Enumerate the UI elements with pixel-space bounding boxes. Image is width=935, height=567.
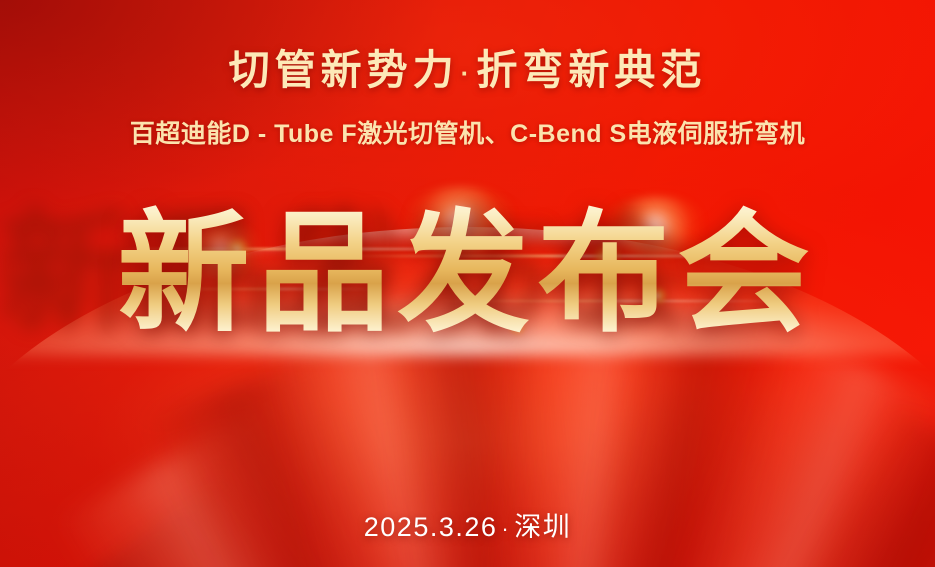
promo-poster: 新品发布会 切管新势力·折弯新典范 百超迪能D - Tube F激光切管机、C-… [0, 0, 935, 567]
main-title-container: 新品发布会 [0, 196, 935, 361]
poster-content: 切管新势力·折弯新典范 百超迪能D - Tube F激光切管机、C-Bend S… [0, 0, 935, 567]
event-city: 深圳 [514, 512, 571, 542]
headline-left-text: 切管新势力 [229, 47, 459, 93]
subtitle: 百超迪能D - Tube F激光切管机、C-Bend S电液伺服折弯机 [0, 114, 935, 150]
event-date-location: 2025.3.26·深圳 [0, 505, 935, 544]
headline-right-text: 折弯新典范 [476, 47, 706, 93]
headline: 切管新势力·折弯新典范 [0, 45, 935, 96]
main-title: 新品发布会 [118, 196, 818, 352]
footer-separator: · [497, 516, 514, 541]
headline-separator: · [459, 57, 477, 90]
event-date: 2025.3.26 [364, 512, 498, 542]
